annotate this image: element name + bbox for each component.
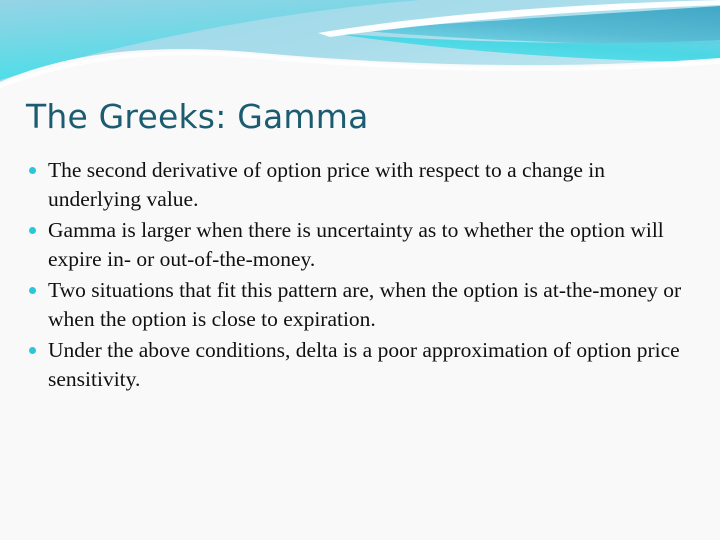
header-wave-svg [0,0,720,96]
list-item: Two situations that fit this pattern are… [26,276,694,334]
filled-circle-bullet-icon [29,287,36,294]
page-title: The Greeks: Gamma [26,96,686,138]
list-item-text: The second derivative of option price wi… [48,156,694,214]
list-item-text: Gamma is larger when there is uncertaint… [48,216,694,274]
bullet-list: The second derivative of option price wi… [26,156,694,396]
list-item-text: Under the above conditions, delta is a p… [48,336,694,394]
filled-circle-bullet-icon [29,167,36,174]
wave-ribbon-decoration [0,0,720,96]
filled-circle-bullet-icon [29,347,36,354]
list-item: Gamma is larger when there is uncertaint… [26,216,694,274]
list-item-text: Two situations that fit this pattern are… [48,276,694,334]
filled-circle-bullet-icon [29,227,36,234]
list-item: Under the above conditions, delta is a p… [26,336,694,394]
title-block: The Greeks: Gamma [26,96,686,138]
list-item: The second derivative of option price wi… [26,156,694,214]
presentation-slide: The Greeks: Gamma The second derivative … [0,0,720,540]
